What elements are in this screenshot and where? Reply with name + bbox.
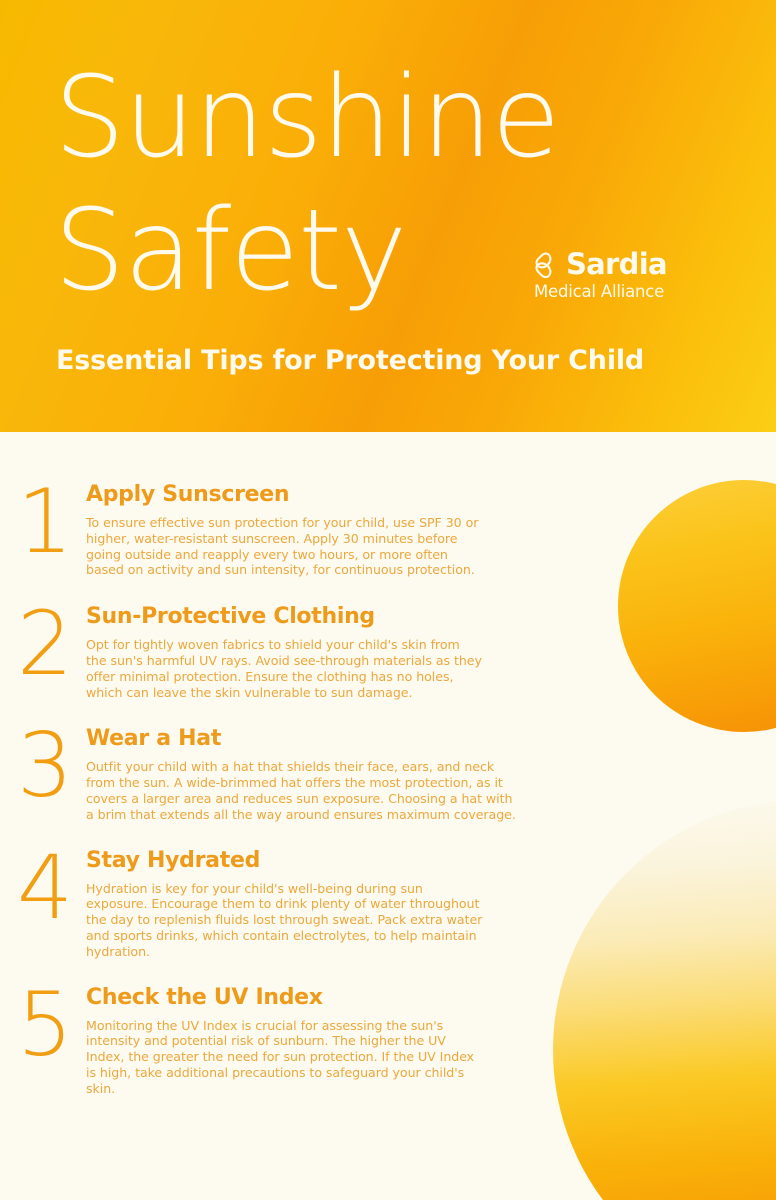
- list-item: 5 Check the UV Index Monitoring the UV I…: [0, 960, 776, 1097]
- tip-title: Stay Hydrated: [86, 848, 746, 874]
- tip-title: Wear a Hat: [86, 726, 746, 752]
- tip-title: Apply Sunscreen: [86, 482, 746, 508]
- logo-tagline: Medical Alliance: [534, 282, 664, 301]
- tip-description: Hydration is key for your child's well-b…: [86, 881, 486, 960]
- tip-description: Opt for tightly woven fabrics to shield …: [86, 637, 482, 700]
- tip-description: To ensure effective sun protection for y…: [86, 515, 488, 578]
- tip-number: 4: [0, 844, 86, 932]
- tip-title: Sun-Protective Clothing: [86, 604, 746, 630]
- tips-list: 1 Apply Sunscreen To ensure effective su…: [0, 432, 776, 1097]
- logo-brand-name: Sardia: [566, 250, 667, 279]
- tip-content: Apply Sunscreen To ensure effective sun …: [86, 478, 776, 578]
- tip-content: Wear a Hat Outfit your child with a hat …: [86, 722, 776, 822]
- tip-content: Sun-Protective Clothing Opt for tightly …: [86, 600, 776, 700]
- tip-number: 1: [0, 478, 86, 566]
- list-item: 4 Stay Hydrated Hydration is key for you…: [0, 823, 776, 960]
- tip-content: Stay Hydrated Hydration is key for your …: [86, 844, 776, 960]
- brand-logo: Sardia Medical Alliance: [533, 250, 667, 301]
- tip-description: Outfit your child with a hat that shield…: [86, 759, 522, 822]
- tip-title: Check the UV Index: [86, 985, 746, 1011]
- infographic-poster: Sunshine Safety Essential Tips for Prote…: [0, 0, 776, 1200]
- list-item: 1 Apply Sunscreen To ensure effective su…: [0, 432, 776, 578]
- tip-number: 3: [0, 722, 86, 810]
- tip-content: Check the UV Index Monitoring the UV Ind…: [86, 981, 776, 1097]
- tip-number: 2: [0, 600, 86, 688]
- header-banner: Sunshine Safety Essential Tips for Prote…: [0, 0, 776, 432]
- list-item: 3 Wear a Hat Outfit your child with a ha…: [0, 700, 776, 822]
- header-content: Sunshine Safety Essential Tips for Prote…: [0, 0, 776, 432]
- bandage-cross-icon: [533, 252, 563, 278]
- tip-number: 5: [0, 981, 86, 1069]
- logo-name-row: Sardia: [533, 250, 667, 279]
- list-item: 2 Sun-Protective Clothing Opt for tightl…: [0, 578, 776, 700]
- page-subtitle: Essential Tips for Protecting Your Child: [56, 345, 644, 376]
- tip-description: Monitoring the UV Index is crucial for a…: [86, 1018, 484, 1097]
